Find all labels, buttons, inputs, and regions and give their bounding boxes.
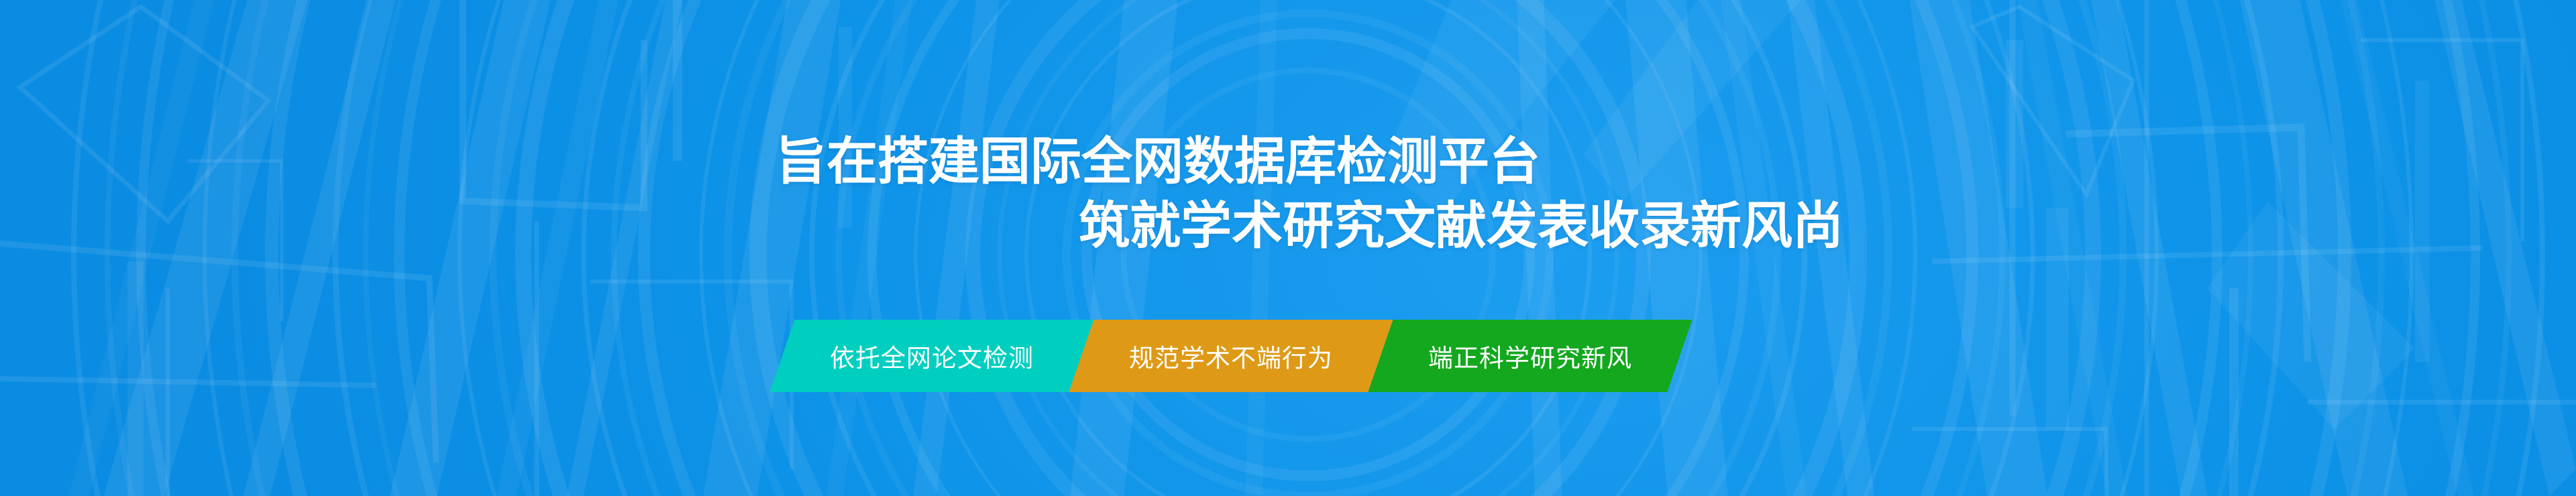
promo-banner: 旨在搭建国际全网数据库检测平台 筑就学术研究文献发表收录新风尚 依托全网论文检测… [0, 0, 2576, 496]
feature-tag-strip: 依托全网论文检测 规范学术不端行为 端正科学研究新风 [758, 320, 1680, 392]
headline-line-2: 筑就学术研究文献发表收录新风尚 [1079, 201, 1843, 252]
feature-tag-research-ethos[interactable]: 端正科学研究新风 [1368, 320, 1692, 392]
feature-tag-label: 端正科学研究新风 [1428, 338, 1632, 374]
headline-block: 旨在搭建国际全网数据库检测平台 筑就学术研究文献发表收录新风尚 [0, 0, 2576, 496]
feature-tag-label: 依托全网论文检测 [830, 338, 1034, 374]
headline-line-1: 旨在搭建国际全网数据库检测平台 [775, 137, 1540, 188]
feature-tag-paper-detection[interactable]: 依托全网论文检测 [769, 320, 1093, 392]
feature-tag-misconduct-regulation[interactable]: 规范学术不端行为 [1069, 320, 1393, 392]
feature-tag-label: 规范学术不端行为 [1129, 338, 1333, 374]
